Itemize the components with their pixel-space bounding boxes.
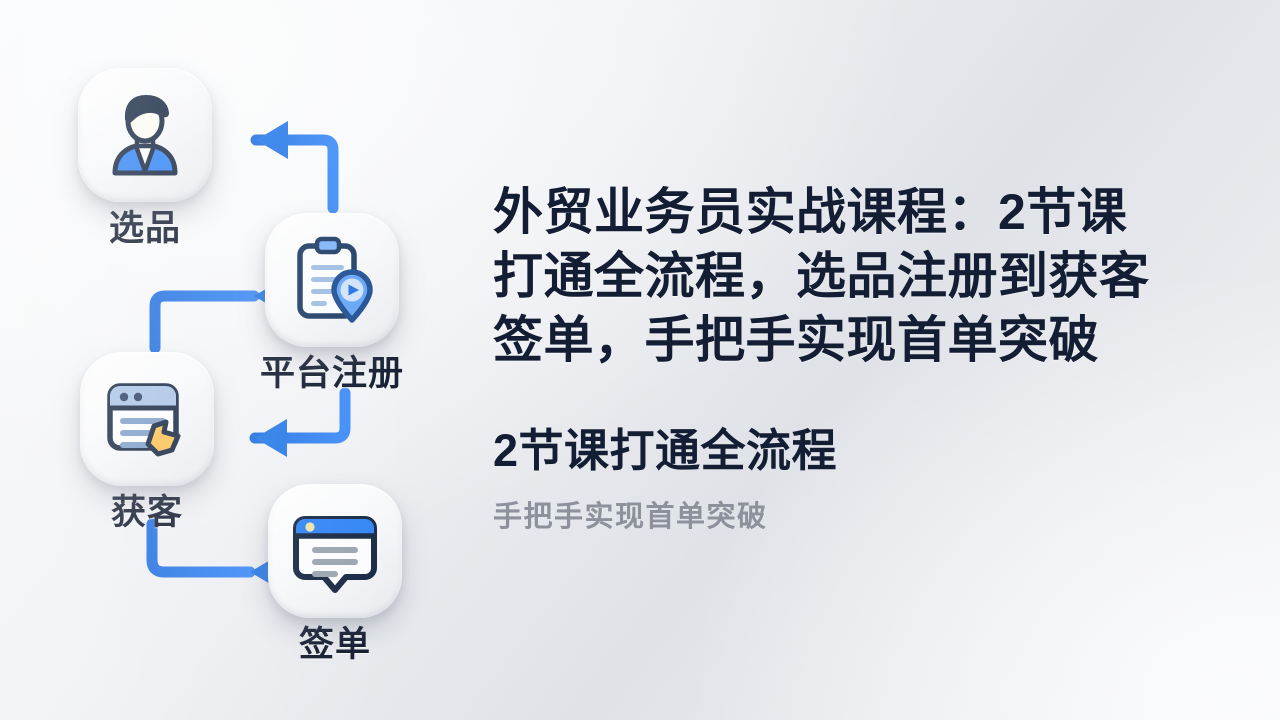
flow-node-label: 选品 xyxy=(78,211,212,246)
headline-line-1: 外贸业务员实战课程：2节课 xyxy=(493,180,1253,244)
flow-node-tile xyxy=(78,68,212,202)
poster-canvas: 选品 xyxy=(0,0,1280,720)
tagline: 手把手实现首单突破 xyxy=(493,500,1253,535)
businessman-icon xyxy=(101,91,189,179)
flow-node-xuanpin[interactable]: 选品 xyxy=(78,68,212,246)
flow-node-tile xyxy=(265,213,399,347)
flow-node-label: 签单 xyxy=(245,627,425,662)
flow-node-label: 获客 xyxy=(80,495,214,530)
headline-line-3: 签单，手把手实现首单突破 xyxy=(493,308,1253,372)
connector-pingtai-to-xuanpin xyxy=(256,121,333,208)
headline: 外贸业务员实战课程：2节课 打通全流程，选品注册到获客 签单，手把手实现首单突破 xyxy=(493,180,1253,372)
flow-node-pingtai[interactable]: 平台注册 xyxy=(265,213,422,391)
clipboard-pin-icon xyxy=(286,234,378,326)
speech-bubble-icon xyxy=(291,507,379,595)
browser-cursor-icon xyxy=(102,374,192,464)
headline-line-2: 打通全流程，选品注册到获客 xyxy=(493,244,1253,308)
flow-node-tile xyxy=(268,484,402,618)
flow-node-label: 平台注册 xyxy=(242,356,422,391)
connector-pingtai-to-huoke xyxy=(255,393,345,457)
flow-node-tile xyxy=(80,352,214,486)
copy-column: 外贸业务员实战课程：2节课 打通全流程，选品注册到获客 签单，手把手实现首单突破… xyxy=(493,180,1253,535)
connector-huoke-to-qiandan xyxy=(152,524,282,591)
subheadline: 2节课打通全流程 xyxy=(493,424,1253,478)
flow-node-qiandan[interactable]: 签单 xyxy=(268,484,425,662)
flow-node-huoke[interactable]: 获客 xyxy=(80,352,214,530)
flow-diagram: 选品 xyxy=(0,0,470,720)
